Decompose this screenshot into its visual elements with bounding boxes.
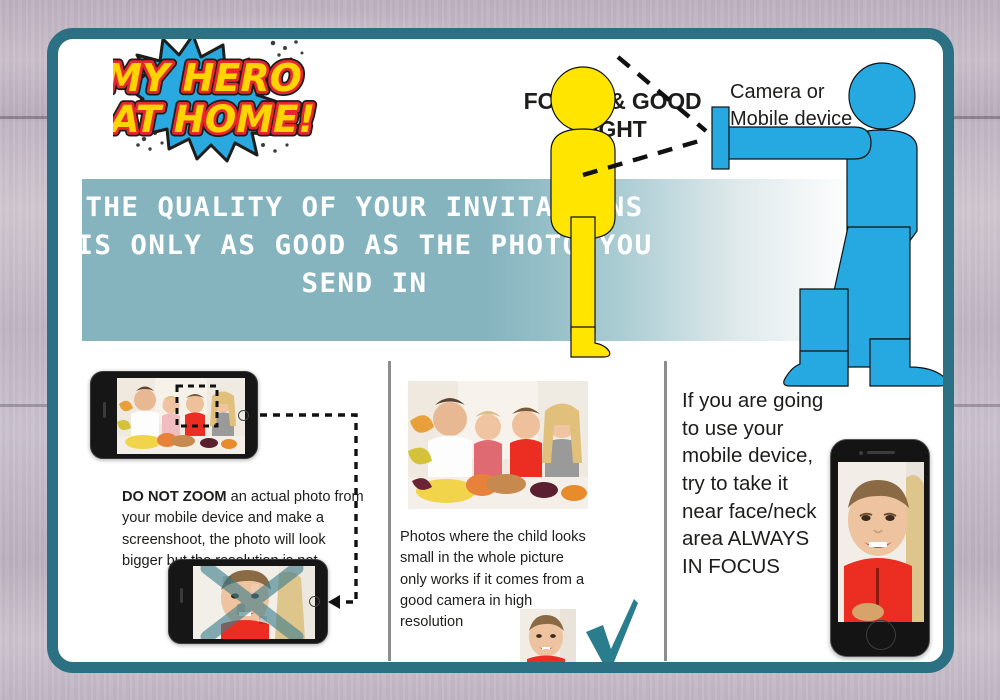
checkmark-icon <box>584 599 638 669</box>
panel-divider-left <box>388 361 391 661</box>
mobile-device-tips-text: If you are going to use your mobile devi… <box>682 387 832 581</box>
logo-line1: MY HERO <box>113 56 302 100</box>
child-figure-icon <box>551 67 615 357</box>
my-hero-at-home-logo: MY HERO MY HERO MY HERO AT HOME! AT HOME… <box>113 29 323 164</box>
logo-line2: AT HOME! <box>113 98 315 141</box>
portrait-photo-image <box>838 462 924 622</box>
panel-mobile-device-tips: If you are going to use your mobile devi… <box>670 359 945 659</box>
photographer-figure-icon <box>712 63 943 386</box>
good-photo-thumbnail <box>520 609 576 673</box>
phone-portrait-closeup <box>830 439 930 657</box>
panel-divider-right <box>664 361 667 661</box>
panel-small-child-photo: Photos where the child looks small in th… <box>394 359 660 659</box>
phone-home-button <box>866 620 896 650</box>
phone-earpiece-icon <box>867 451 895 454</box>
panel-do-not-zoom: DO NOT ZOOM an actual photo from your mo… <box>84 359 384 659</box>
infographic-card: THE QUALITY OF YOUR INVITATIONS IS ONLY … <box>47 28 954 673</box>
family-photo-large-image <box>408 381 588 509</box>
zoom-flow-connector-arrow <box>84 359 384 659</box>
phone-front-camera-icon <box>859 451 863 455</box>
